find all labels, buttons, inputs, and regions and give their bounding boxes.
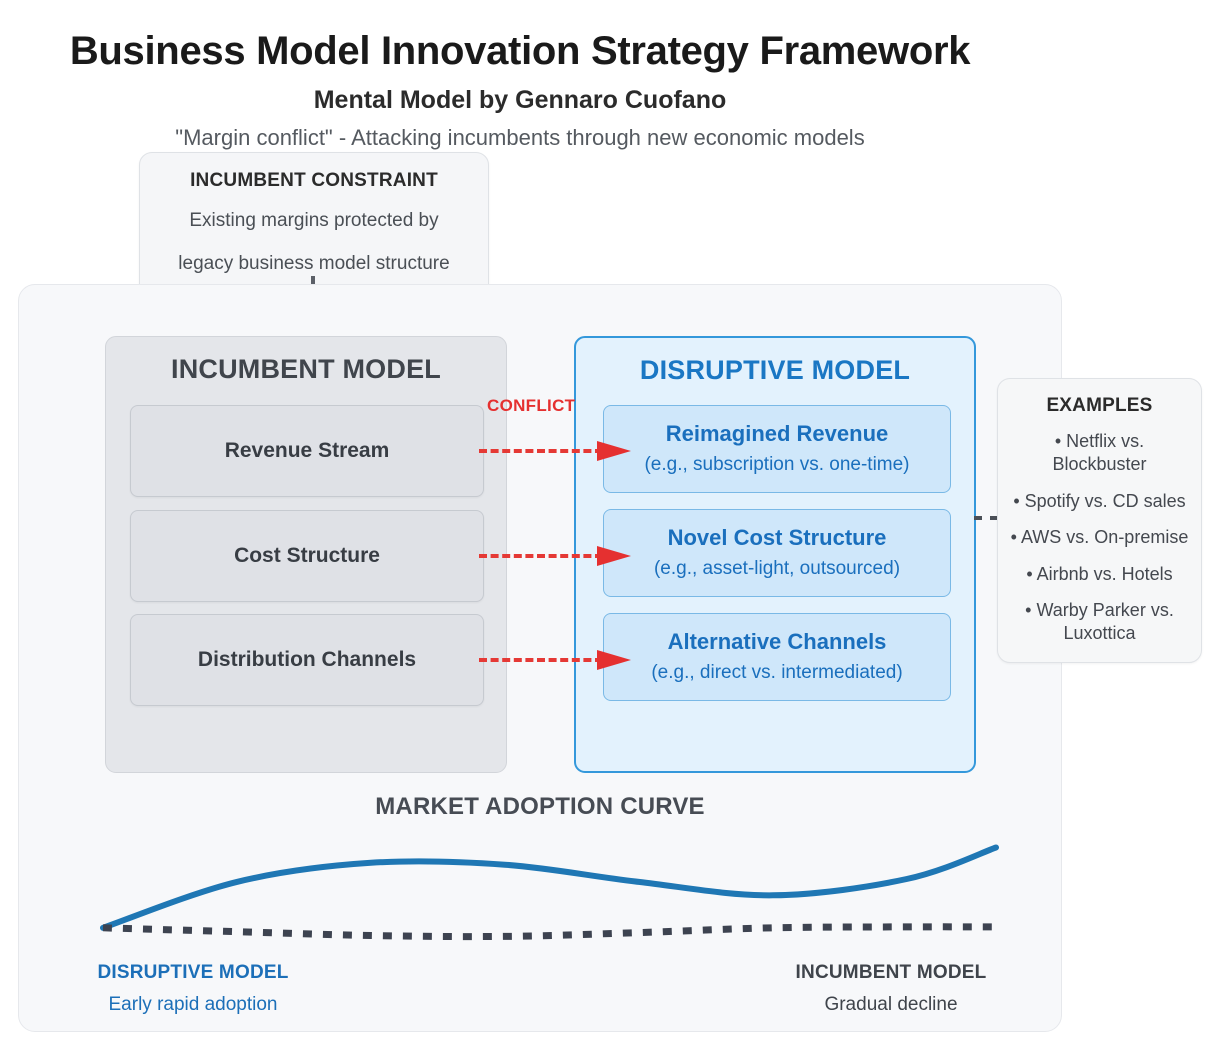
incumbent-model-panel: INCUMBENT MODEL Revenue Stream Cost Stru…	[105, 336, 507, 773]
conflict-arrow-shaft	[479, 658, 603, 662]
conflict-arrow-shaft	[479, 554, 603, 558]
incumbent-constraint-line-2: legacy business model structure	[154, 249, 474, 278]
disruptive-item-subtitle: (e.g., asset-light, outsourced)	[654, 558, 900, 581]
page-subtitle: Mental Model by Gennaro Cuofano	[0, 86, 1040, 115]
adoption-curve-chart	[18, 824, 1062, 964]
curve-disruptive-model	[103, 848, 996, 928]
disruptive-item-novel-cost-structure[interactable]: Novel Cost Structure (e.g., asset-light,…	[603, 509, 951, 597]
conflict-arrow-cost	[479, 546, 631, 566]
example-item: • Warby Parker vs. Luxottica	[1006, 599, 1193, 646]
disruptive-item-subtitle: (e.g., subscription vs. one-time)	[644, 454, 909, 477]
incumbent-item-label: Distribution Channels	[198, 648, 416, 672]
disruptive-model-panel: DISRUPTIVE MODEL Reimagined Revenue (e.g…	[574, 336, 976, 773]
disruptive-item-reimagined-revenue[interactable]: Reimagined Revenue (e.g., subscription v…	[603, 405, 951, 493]
page-tagline: "Margin conflict" - Attacking incumbents…	[0, 125, 1040, 150]
conflict-arrow-channels	[479, 650, 631, 670]
curve-legend-incumbent: INCUMBENT MODEL Gradual decline	[782, 962, 1000, 1017]
examples-title: EXAMPLES	[1006, 395, 1193, 417]
example-item: • Airbnb vs. Hotels	[1006, 563, 1193, 586]
disruptive-item-subtitle: (e.g., direct vs. intermediated)	[651, 662, 902, 685]
curve-legend-disruptive: DISRUPTIVE MODEL Early rapid adoption	[88, 962, 298, 1017]
conflict-arrow-shaft	[479, 449, 603, 453]
incumbent-item-revenue-stream[interactable]: Revenue Stream	[130, 405, 484, 497]
incumbent-item-distribution-channels[interactable]: Distribution Channels	[130, 614, 484, 706]
curve-legend-incumbent-sub: Gradual decline	[782, 994, 1000, 1017]
examples-connector-line	[974, 516, 998, 520]
conflict-label: CONFLICT	[487, 396, 575, 416]
incumbent-constraint-title: INCUMBENT CONSTRAINT	[154, 170, 474, 192]
curve-legend-disruptive-sub: Early rapid adoption	[88, 994, 298, 1017]
incumbent-item-label: Cost Structure	[234, 544, 380, 568]
arrow-head-icon	[597, 441, 631, 461]
page-title: Business Model Innovation Strategy Frame…	[0, 28, 1040, 74]
disruptive-item-title: Novel Cost Structure	[668, 525, 887, 551]
header: Business Model Innovation Strategy Frame…	[0, 0, 1040, 150]
curve-legend-incumbent-title: INCUMBENT MODEL	[782, 962, 1000, 985]
curve-legend-disruptive-title: DISRUPTIVE MODEL	[88, 962, 298, 985]
arrow-head-icon	[597, 650, 631, 670]
curve-incumbent-model	[103, 927, 996, 937]
disruptive-model-title: DISRUPTIVE MODEL	[576, 355, 974, 386]
example-item: • AWS vs. On-premise	[1006, 526, 1193, 549]
disruptive-item-alternative-channels[interactable]: Alternative Channels (e.g., direct vs. i…	[603, 613, 951, 701]
incumbent-constraint-line-1: Existing margins protected by	[154, 206, 474, 235]
incumbent-item-label: Revenue Stream	[225, 439, 390, 463]
adoption-curve-title: MARKET ADOPTION CURVE	[18, 793, 1062, 821]
disruptive-item-title: Reimagined Revenue	[666, 421, 889, 447]
conflict-arrow-revenue	[479, 441, 631, 461]
incumbent-item-cost-structure[interactable]: Cost Structure	[130, 510, 484, 602]
disruptive-item-title: Alternative Channels	[668, 629, 887, 655]
incumbent-model-title: INCUMBENT MODEL	[106, 354, 506, 385]
examples-callout: EXAMPLES • Netflix vs. Blockbuster • Spo…	[997, 378, 1202, 663]
example-item: • Netflix vs. Blockbuster	[1006, 430, 1193, 477]
example-item: • Spotify vs. CD sales	[1006, 490, 1193, 513]
arrow-head-icon	[597, 546, 631, 566]
